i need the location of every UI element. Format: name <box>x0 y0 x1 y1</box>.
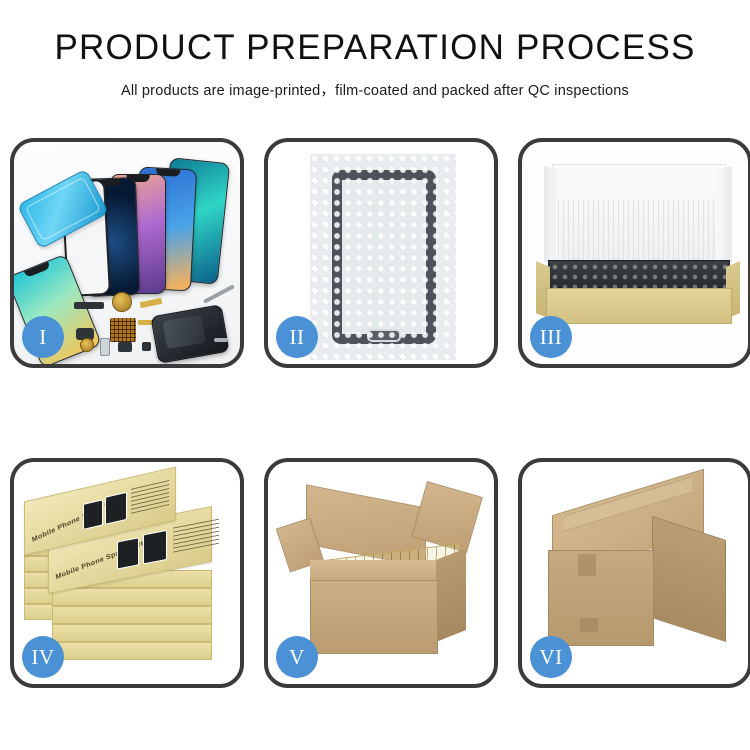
vibrator-motor-part <box>80 338 94 352</box>
process-step-panel-6[interactable]: VI <box>518 458 750 688</box>
retail-box-window <box>83 499 103 530</box>
screws-group <box>214 338 228 342</box>
process-step-panel-1[interactable]: I <box>10 138 244 368</box>
battery-connector-part <box>118 342 132 352</box>
carton-front-face <box>310 580 438 654</box>
process-step-grid: I II III <box>10 138 740 688</box>
kraft-box-front <box>546 288 732 324</box>
retail-box-edge <box>52 588 212 606</box>
retail-box-spec-text <box>173 518 219 553</box>
step-badge-1: I <box>22 316 64 358</box>
carton-handle-slot <box>578 554 596 576</box>
bubble-wrap-sheet <box>310 154 456 360</box>
retail-box-edge <box>52 606 212 624</box>
page-title: PRODUCT PREPARATION PROCESS <box>0 30 750 67</box>
retail-box-edge <box>52 624 212 642</box>
step-badge-2: II <box>276 316 318 358</box>
foam-insert <box>558 200 718 266</box>
retail-box-window <box>117 537 139 569</box>
retail-box-window <box>143 530 167 565</box>
retail-box-spec-text <box>131 479 169 514</box>
speaker-coil-part <box>112 292 132 312</box>
ic-chip-array-part <box>110 318 136 342</box>
sealed-carton-front <box>548 550 654 646</box>
carton-handle-slot <box>580 618 598 632</box>
step-badge-4: IV <box>22 636 64 678</box>
process-step-panel-2[interactable]: II <box>264 138 498 368</box>
connector-strip-part <box>74 302 104 309</box>
process-step-panel-3[interactable]: III <box>518 138 750 368</box>
retail-box-edge <box>52 642 212 660</box>
process-step-panel-5[interactable]: V <box>264 458 498 688</box>
wrapped-screen-assembly <box>332 170 436 344</box>
page-subtitle: All products are image-printed，film-coat… <box>0 79 750 100</box>
step-badge-3: III <box>530 316 572 358</box>
sim-tray-part <box>100 338 110 356</box>
step-badge-6: VI <box>530 636 572 678</box>
retail-box-window <box>105 492 127 525</box>
carton-right-side <box>436 548 466 642</box>
button-part <box>142 342 151 351</box>
step-badge-5: V <box>276 636 318 678</box>
page-header: PRODUCT PREPARATION PROCESS All products… <box>0 0 750 100</box>
box-lid-right-flap <box>716 166 732 267</box>
process-step-panel-4[interactable]: Mobile Phone Spare Parts Mobile Phone Sp… <box>10 458 244 688</box>
